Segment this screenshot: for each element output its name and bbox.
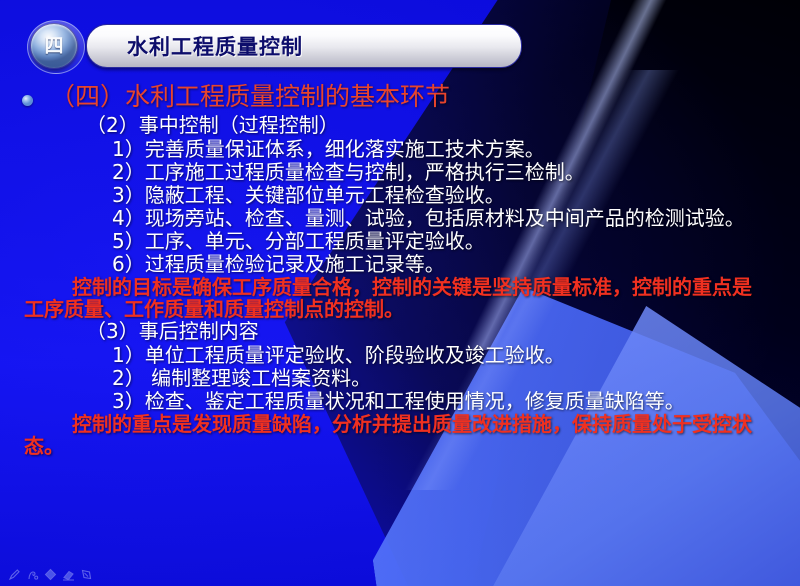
list-item: 3）隐蔽工程、关键部位单元工程检查验收。 bbox=[0, 185, 800, 205]
presentation-slide: 水利工程质量控制 四 （四）水利工程质量控制的基本环节 （2）事中控制（过程控制… bbox=[0, 0, 800, 586]
header-chapter-badge-label: 四 bbox=[44, 37, 63, 56]
emphasis-note-line: 控制的目标是确保工序质量合格，控制的关键是坚持质量标准，控制的重点是 bbox=[0, 277, 800, 297]
emphasis-note-line: 态。 bbox=[0, 436, 800, 456]
section-heading: （2）事中控制（过程控制） bbox=[0, 115, 800, 135]
list-item: 1）单位工程质量评定验收、阶段验收及竣工验收。 bbox=[0, 345, 800, 365]
list-item: 4）现场旁站、检查、量测、试验，包括原材料及中间产品的检测试验。 bbox=[0, 208, 800, 228]
pointer-icon[interactable] bbox=[26, 568, 39, 581]
pen-icon[interactable] bbox=[8, 568, 21, 581]
list-item: 2）工序施工过程质量检查与控制，严格执行三检制。 bbox=[0, 162, 800, 182]
header-chapter-badge: 四 bbox=[30, 23, 78, 69]
emphasis-note-line: 控制的重点是发现质量缺陷，分析并提出质量改进措施，保持质量处于受控状 bbox=[0, 414, 800, 434]
highlighter-icon[interactable] bbox=[44, 568, 57, 581]
list-item: 3）检查、鉴定工程质量状况和工程使用情况，修复质量缺陷等。 bbox=[0, 391, 800, 411]
annotation-toolbar[interactable] bbox=[8, 568, 93, 581]
emphasis-note-line: 工序质量、工作质量和质量控制点的控制。 bbox=[0, 299, 800, 319]
page-title-text: （四）水利工程质量控制的基本环节 bbox=[50, 82, 450, 111]
list-item: 1）完善质量保证体系，细化落实施工技术方案。 bbox=[0, 139, 800, 159]
bullet-icon bbox=[22, 95, 33, 106]
ink-icon[interactable] bbox=[80, 568, 93, 581]
page-title: （四）水利工程质量控制的基本环节 bbox=[0, 84, 800, 109]
header-banner-title: 水利工程质量控制 bbox=[127, 31, 303, 61]
slide-body: （四）水利工程质量控制的基本环节 （2）事中控制（过程控制） 1）完善质量保证体… bbox=[0, 84, 800, 458]
section-heading: （3）事后控制内容 bbox=[0, 321, 800, 341]
list-item: 2） 编制整理竣工档案资料。 bbox=[0, 368, 800, 388]
list-item: 5）工序、单元、分部工程质量评定验收。 bbox=[0, 231, 800, 251]
header-banner: 水利工程质量控制 bbox=[86, 24, 522, 68]
list-item: 6）过程质量检验记录及施工记录等。 bbox=[0, 254, 800, 274]
eraser-icon[interactable] bbox=[62, 568, 75, 581]
slide-header: 水利工程质量控制 四 bbox=[28, 23, 520, 67]
